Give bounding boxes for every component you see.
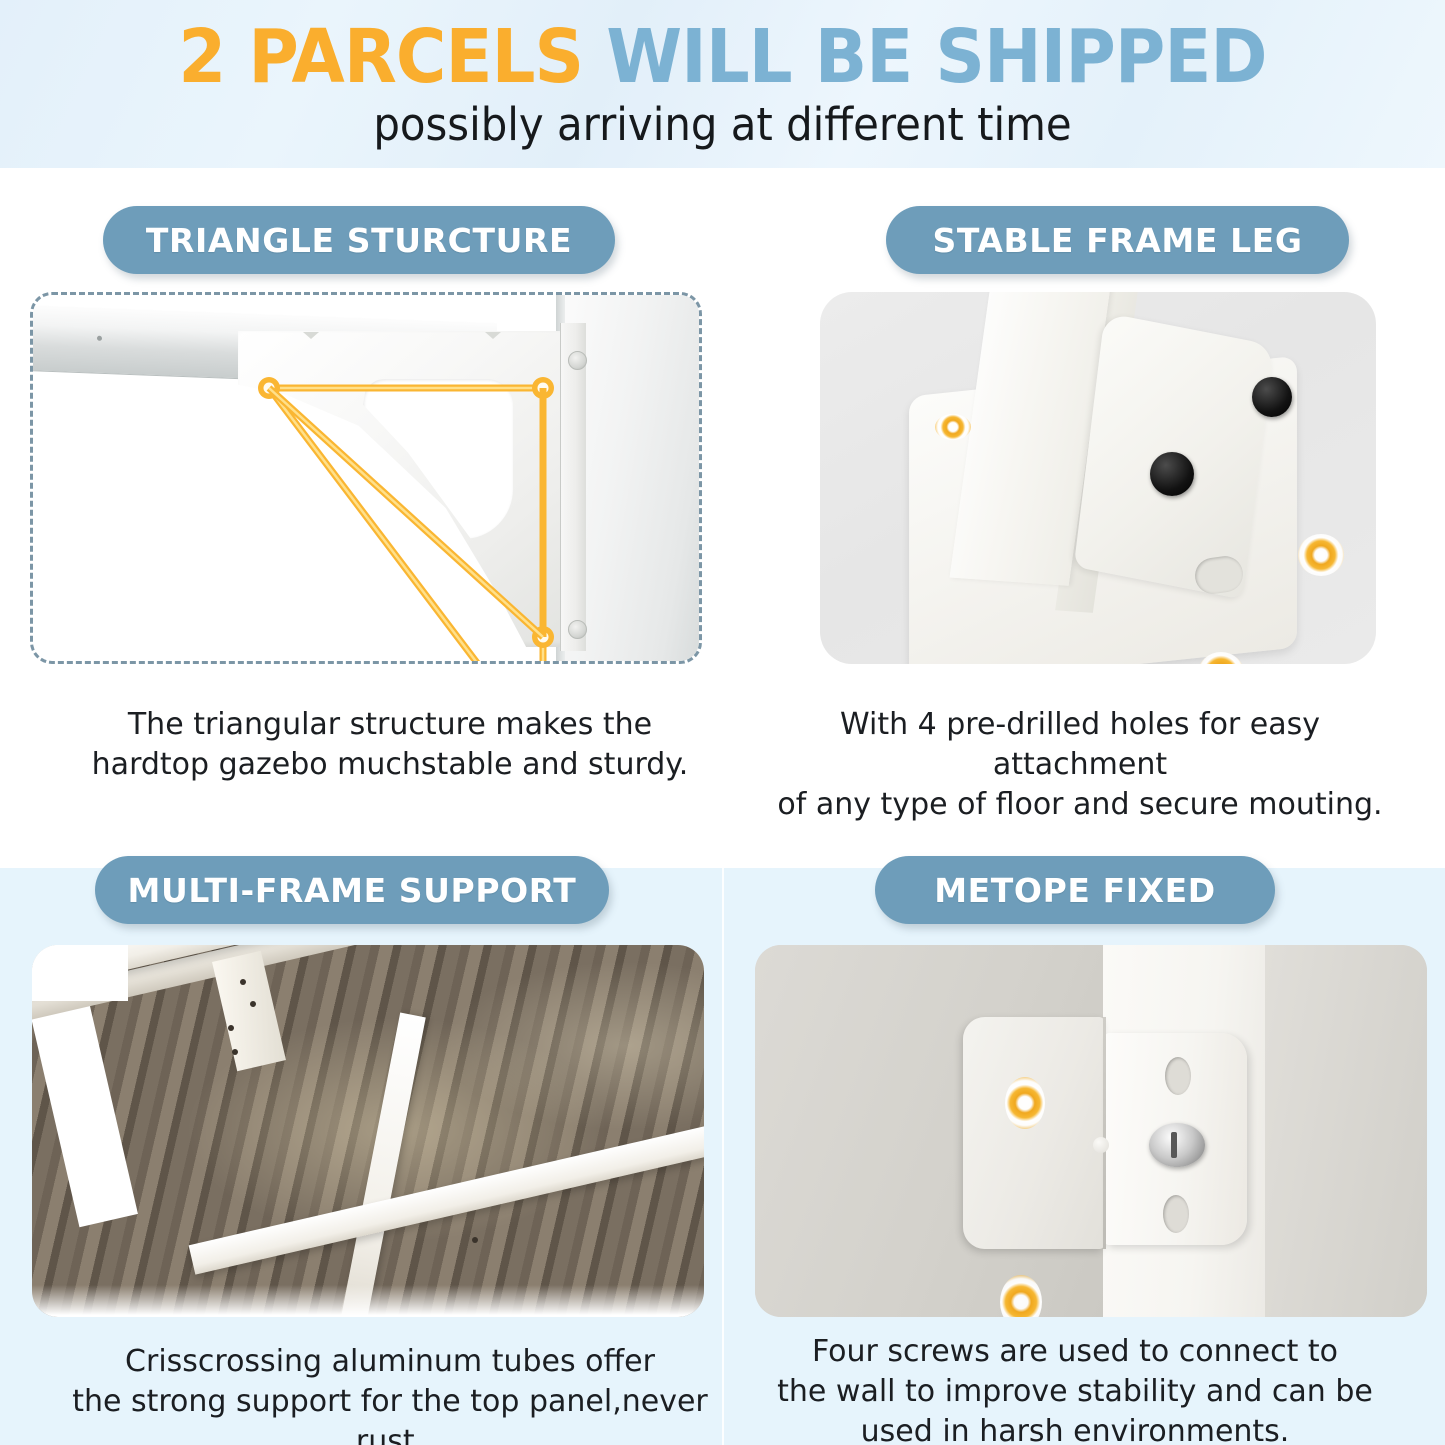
- caption-line: hardtop gazebo muchstable and sturdy.: [60, 745, 720, 785]
- wall-surface-right: [1265, 945, 1427, 1317]
- caption-line: The triangular structure makes the: [60, 705, 720, 745]
- black-bolt: [1252, 377, 1292, 417]
- page-subtitle: possibly arriving at different time: [51, 100, 1395, 150]
- caption-line: With 4 pre-drilled holes for easy attach…: [775, 705, 1385, 785]
- page-title-rest: WILL BE SHIPPED: [606, 14, 1266, 100]
- feature-badge-triangle-structure: TRIANGLE STURCTURE: [103, 206, 615, 274]
- feature-caption-metope-fixed: Four screws are used to connect to the w…: [775, 1332, 1375, 1445]
- gold-triangle-annotation: [33, 295, 702, 664]
- feature-badge-stable-frame-leg: STABLE FRAME LEG: [886, 206, 1349, 274]
- wall-bracket-left-wing: [963, 1017, 1105, 1249]
- caption-line: the strong support for the top panel,nev…: [60, 1382, 720, 1445]
- feature-image-triangle-structure: [30, 292, 702, 664]
- bracket-nub: [1093, 1137, 1109, 1153]
- beam-rivet: [472, 1237, 478, 1243]
- pre-drilled-hole-marker: [935, 414, 971, 440]
- infographic-page: 2 PARCELS WILL BE SHIPPED possibly arriv…: [0, 0, 1445, 1445]
- pre-drilled-hole-marker: [1298, 534, 1344, 576]
- panel-bottom-fade: [32, 1285, 704, 1317]
- bracket-screw-hole: [1163, 1195, 1189, 1233]
- bracket-fold-seam: [1103, 1017, 1106, 1249]
- metal-screw: [1149, 1123, 1205, 1167]
- page-title-highlight: 2 PARCELS: [178, 14, 583, 100]
- bottom-section-divider: [722, 868, 724, 1445]
- feature-caption-multi-frame-support: Crisscrossing aluminum tubes offer the s…: [60, 1342, 720, 1445]
- caption-line: Four screws are used to connect to: [775, 1332, 1375, 1372]
- caption-line: used in harsh environments.: [775, 1412, 1375, 1445]
- feature-caption-triangle-structure: The triangular structure makes the hardt…: [60, 705, 720, 785]
- feature-image-multi-frame-support: [32, 945, 704, 1317]
- feature-caption-stable-frame-leg: With 4 pre-drilled holes for easy attach…: [775, 705, 1385, 825]
- beam-rivet: [232, 1049, 238, 1055]
- beam-rivet: [228, 1025, 234, 1031]
- page-title: 2 PARCELS WILL BE SHIPPED: [51, 17, 1395, 97]
- header-banner: 2 PARCELS WILL BE SHIPPED possibly arriv…: [0, 0, 1445, 168]
- feature-image-metope-fixed: [755, 945, 1427, 1317]
- caption-line: of any type of floor and secure mouting.: [775, 785, 1385, 825]
- beam-rivet: [250, 1001, 256, 1007]
- caption-line: Crisscrossing aluminum tubes offer: [60, 1342, 720, 1382]
- bracket-screw-hole: [1165, 1057, 1191, 1095]
- feature-image-stable-frame-leg: [820, 292, 1376, 664]
- panel-corner-mask: [32, 945, 128, 1001]
- feature-badge-multi-frame-support: MULTI-FRAME SUPPORT: [95, 856, 609, 924]
- black-bolt: [1150, 452, 1194, 496]
- caption-line: the wall to improve stability and can be: [775, 1372, 1375, 1412]
- beam-rivet: [240, 979, 246, 985]
- screw-point-marker: [1005, 1077, 1045, 1129]
- feature-badge-metope-fixed: METOPE FIXED: [875, 856, 1275, 924]
